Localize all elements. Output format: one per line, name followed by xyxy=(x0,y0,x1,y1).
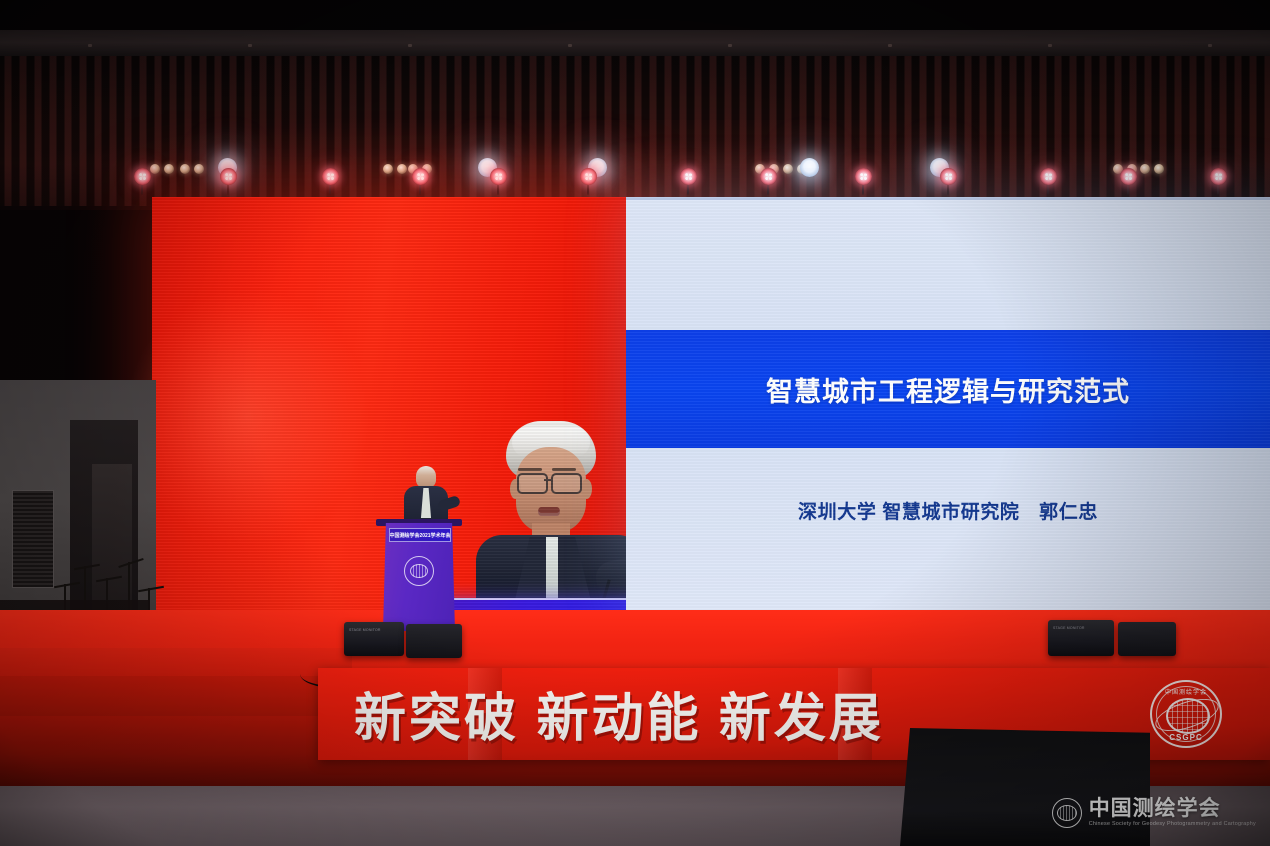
foreground-display-panel xyxy=(900,728,1150,846)
banner-slogan: 新突破 新动能 新发展 xyxy=(354,676,884,751)
twin-head-light xyxy=(383,164,409,177)
watermark-cn: 中国测绘学会 xyxy=(1089,798,1256,819)
par-light-fixture xyxy=(680,168,697,185)
monitor-right-label: STAGE MONITOR xyxy=(1053,626,1085,630)
photo-scene: 中国测绘学会2021学术年会 智慧城市工程逻辑与研究范式 深圳大学 智慧城市研究… xyxy=(0,0,1270,846)
mic-stand-boom xyxy=(54,582,80,588)
presentation-slide: 智慧城市工程逻辑与研究范式 深圳大学 智慧城市研究院 郭仁忠 xyxy=(626,197,1270,611)
mic-stand-boom xyxy=(74,564,100,570)
twin-head-light xyxy=(180,164,206,177)
wall-vent-grille xyxy=(12,490,54,588)
par-light-fixture xyxy=(134,168,151,185)
par-light-fixture xyxy=(1210,168,1227,185)
twin-head-light xyxy=(150,164,176,177)
par-light-fixture xyxy=(1040,168,1057,185)
par-light-fixture xyxy=(490,168,507,185)
stage-monitor-left: STAGE MONITOR xyxy=(344,622,404,656)
par-light-fixture xyxy=(940,168,957,185)
logo-en-text: CSGPC xyxy=(1150,733,1222,742)
stage-speaker-head xyxy=(416,466,436,488)
podium-plate-text: 中国测绘学会2021学术年会 xyxy=(389,532,450,539)
stage-wedge-left xyxy=(406,624,462,658)
watermark-en: Chinese Society for Geodesy Photogrammet… xyxy=(1089,822,1256,827)
mic-stand-boom xyxy=(96,576,122,582)
logo-cn-text: 中国测绘学会 xyxy=(1150,687,1222,696)
monitor-left-label: STAGE MONITOR xyxy=(349,628,381,632)
par-light-fixture xyxy=(855,168,872,185)
ceiling-dark xyxy=(0,0,1270,32)
twin-head-light xyxy=(1140,164,1166,177)
par-light-fixture xyxy=(322,168,339,185)
watermark-text-group: 中国测绘学会 Chinese Society for Geodesy Photo… xyxy=(1089,798,1256,827)
par-light-fixture xyxy=(220,168,237,185)
led-slide-scanlines xyxy=(626,197,1270,611)
podium-society-logo xyxy=(404,556,434,586)
par-light-fixture xyxy=(580,168,597,185)
watermark: 中国测绘学会 Chinese Society for Geodesy Photo… xyxy=(1052,798,1256,828)
mic-stand-boom xyxy=(118,558,143,568)
podium-name-plate: 中国测绘学会2021学术年会 xyxy=(389,528,451,542)
par-light-fixture xyxy=(760,168,777,185)
ceiling-ledge-lights xyxy=(0,44,1270,48)
par-light-fixture xyxy=(1120,168,1137,185)
stage-step-lower xyxy=(0,676,352,716)
stage-light-truss xyxy=(0,150,1270,202)
watermark-logo-icon xyxy=(1052,798,1082,828)
banner-society-logo: 中国测绘学会 CSGPC xyxy=(1150,680,1222,748)
stage-monitor-right: STAGE MONITOR xyxy=(1048,620,1114,656)
stage-wedge-right xyxy=(1118,622,1176,656)
spotlight-fixture xyxy=(800,158,819,177)
par-light-fixture xyxy=(412,168,429,185)
